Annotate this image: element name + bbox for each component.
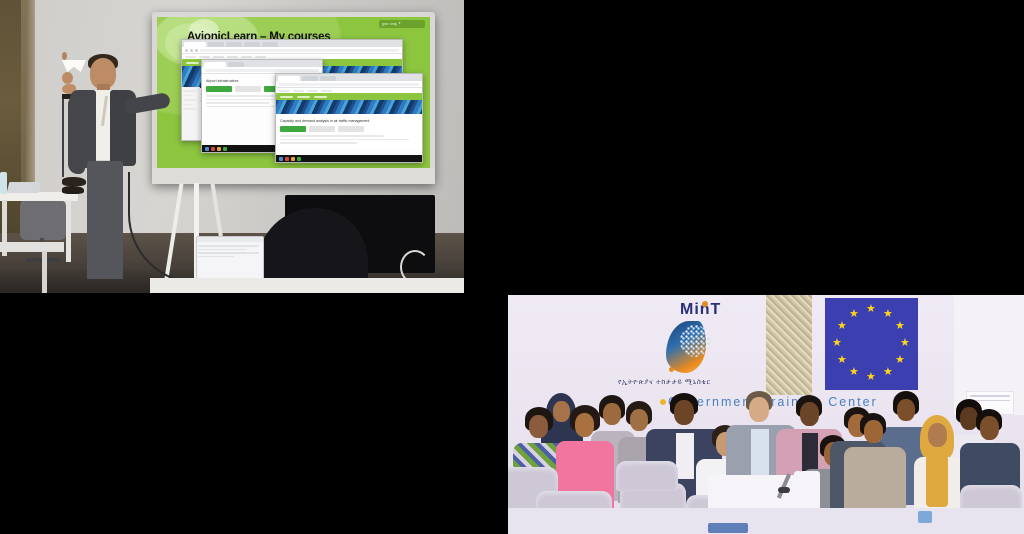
sidebar-line — [183, 90, 196, 92]
preview-button[interactable] — [309, 126, 335, 132]
presenter-trousers — [87, 161, 123, 279]
center-name: Government Training Center — [668, 395, 878, 409]
bookmark-item[interactable] — [241, 56, 252, 58]
bookmark-item[interactable] — [213, 56, 224, 58]
content-line — [280, 142, 357, 144]
browser-tab[interactable] — [320, 76, 336, 81]
laptop-content-line — [198, 252, 259, 254]
person-face — [864, 420, 883, 443]
person-face — [897, 399, 915, 421]
taskbar-icon[interactable] — [279, 157, 283, 161]
taskbar-icon[interactable] — [217, 147, 221, 151]
status-badge-text: gmv ontg — [382, 22, 397, 26]
browser-tab[interactable] — [226, 42, 242, 47]
browser-tabstrip[interactable] — [202, 60, 322, 67]
person-face — [630, 409, 648, 431]
presenter-shoe — [62, 177, 86, 186]
phone-device — [918, 511, 932, 523]
presenter-left-hand — [62, 72, 73, 84]
eu-star-icon: ★ — [866, 372, 876, 383]
sidebar-line — [183, 95, 193, 97]
eu-star-icon: ★ — [900, 338, 910, 349]
site-navbar[interactable] — [276, 93, 422, 100]
content-line — [280, 139, 409, 141]
person-face — [749, 397, 769, 422]
taskbar-icon[interactable] — [205, 147, 209, 151]
eu-star-icon: ★ — [837, 355, 847, 366]
back-icon[interactable] — [185, 49, 188, 52]
sidebar-line — [183, 104, 193, 106]
person-face — [928, 423, 947, 447]
taskbar-icon[interactable] — [223, 147, 227, 151]
bookmark-item[interactable] — [279, 90, 290, 92]
mint-logo: MinT — [656, 299, 740, 377]
presenter-leg-split — [62, 99, 64, 177]
content-line — [280, 135, 384, 137]
browser-tab[interactable] — [302, 76, 318, 81]
contents-button[interactable] — [338, 126, 364, 132]
eu-star-icon: ★ — [895, 355, 905, 366]
eu-star-icon: ★ — [832, 338, 842, 349]
taskbar-icon[interactable] — [211, 147, 215, 151]
sidebar-line — [183, 99, 196, 101]
eu-star-icon: ★ — [883, 367, 893, 378]
url-field[interactable] — [205, 69, 319, 72]
course-action-buttons[interactable] — [280, 126, 419, 132]
presentation-slide: AvionicLearn – My courses gmv ontg ▾ — [157, 17, 430, 168]
enrol-button[interactable] — [280, 126, 306, 132]
mint-logo-text: MinT — [680, 301, 721, 319]
person-face — [575, 413, 594, 437]
nav-item[interactable] — [280, 96, 293, 98]
front-desk-leg — [42, 251, 47, 293]
address-bar[interactable] — [276, 81, 422, 88]
collage-canvas: AvionicLearn – My courses gmv ontg ▾ — [0, 0, 1024, 534]
bookmark-item[interactable] — [307, 90, 318, 92]
sidebar-line — [183, 108, 196, 110]
person-face — [603, 403, 621, 425]
notice-line — [970, 395, 1010, 397]
conference-chair — [616, 461, 678, 491]
taskbar-icon[interactable] — [297, 157, 301, 161]
eu-star-icon: ★ — [866, 304, 876, 315]
browser-tabstrip[interactable] — [182, 40, 402, 47]
eu-star-icon: ★ — [895, 321, 905, 332]
window-content: Capacity and demand analysis in air traf… — [276, 114, 422, 149]
browser-tab[interactable] — [204, 62, 226, 67]
front-desk-surface — [150, 278, 464, 293]
person-face — [980, 416, 999, 440]
bookmark-item[interactable] — [293, 90, 304, 92]
browser-tab[interactable] — [262, 42, 278, 47]
european-union-flag: ★ ★ ★ ★ ★ ★ ★ ★ ★ ★ ★ ★ — [825, 298, 918, 390]
front-desk — [0, 242, 64, 252]
laptop-screen-toolbar — [197, 237, 263, 242]
browser-tab[interactable] — [244, 42, 260, 47]
preview-button[interactable] — [235, 86, 261, 92]
eu-star-icon: ★ — [849, 367, 859, 378]
taskbar-icon[interactable] — [291, 157, 295, 161]
monitor-edge — [708, 523, 748, 533]
office-chair — [20, 200, 66, 240]
amharic-ministry-text: የኢትዮጵያና ተከታታይ ሚኒስቴር — [618, 379, 711, 387]
person-shirt — [751, 429, 769, 477]
course-heading: Capacity and demand analysis in air traf… — [280, 119, 419, 123]
presenter — [62, 52, 172, 293]
taskbar-icon[interactable] — [285, 157, 289, 161]
browser-tab[interactable] — [278, 76, 300, 81]
bookmark-item[interactable] — [185, 56, 196, 58]
nav-item[interactable] — [314, 96, 327, 98]
front-desk-surface — [508, 508, 1024, 534]
nav-item[interactable] — [297, 96, 310, 98]
url-field[interactable] — [279, 83, 419, 86]
person-face — [800, 402, 819, 426]
presenter-collar — [62, 60, 86, 72]
laptop-closed — [7, 182, 42, 193]
course-sidebar[interactable] — [182, 87, 200, 140]
enrol-button[interactable] — [206, 86, 232, 92]
eu-star-icon: ★ — [837, 321, 847, 332]
capacity-demand-window[interactable]: Capacity and demand analysis in air traf… — [275, 73, 423, 163]
presenter-ear — [62, 52, 67, 60]
site-hero-banner — [276, 100, 422, 114]
group-photo: MinT የኢትዮጵያና ተከታታይ ሚኒስቴር Government Trai… — [508, 295, 1024, 534]
eu-star-icon: ★ — [883, 309, 893, 320]
bookmark-item[interactable] — [227, 56, 238, 58]
person-face — [674, 400, 694, 425]
eu-star-icon: ★ — [849, 309, 859, 320]
person-face — [553, 401, 570, 422]
bookmark-item[interactable] — [199, 56, 210, 58]
person-scarf — [926, 455, 948, 507]
browser-tab[interactable] — [208, 42, 224, 47]
mint-logo-dot-pattern — [680, 325, 710, 357]
open-laptop — [196, 236, 264, 282]
browser-tab[interactable] — [184, 42, 206, 47]
center-name-bullet — [660, 399, 666, 405]
browser-tabstrip[interactable] — [276, 74, 422, 81]
person-face — [529, 415, 548, 438]
laptop-content-line — [198, 249, 247, 251]
wall-display: AvionicLearn – My courses gmv ontg ▾ — [152, 12, 435, 184]
stone-wall-panel — [766, 295, 812, 395]
display-screen: AvionicLearn – My courses gmv ontg ▾ — [157, 17, 430, 168]
bookmark-item[interactable] — [321, 90, 332, 92]
person-shirt — [676, 433, 694, 479]
browser-tab[interactable] — [228, 62, 244, 67]
mint-logo-dot — [702, 301, 708, 307]
training-session-photo: AvionicLearn – My courses gmv ontg ▾ — [0, 0, 464, 293]
microphone-head — [778, 487, 790, 493]
forward-icon[interactable] — [190, 49, 193, 52]
water-bottle — [0, 172, 7, 194]
reload-icon[interactable] — [195, 49, 198, 52]
url-field[interactable] — [200, 49, 399, 52]
bookmark-item[interactable] — [255, 56, 266, 58]
laptop-content-line — [198, 256, 234, 258]
presenter-shoe — [62, 186, 84, 194]
windows-taskbar[interactable] — [276, 155, 422, 162]
nav-item[interactable] — [186, 62, 199, 64]
address-bar[interactable] — [182, 47, 402, 54]
laptop-content-line — [198, 245, 259, 247]
display-status-badge: gmv ontg ▾ — [379, 20, 425, 28]
content-line — [206, 102, 269, 104]
presenter-left-arm — [68, 96, 85, 174]
mint-logo-accent-dot — [669, 367, 674, 372]
wifi-icon: ▾ — [399, 22, 401, 25]
